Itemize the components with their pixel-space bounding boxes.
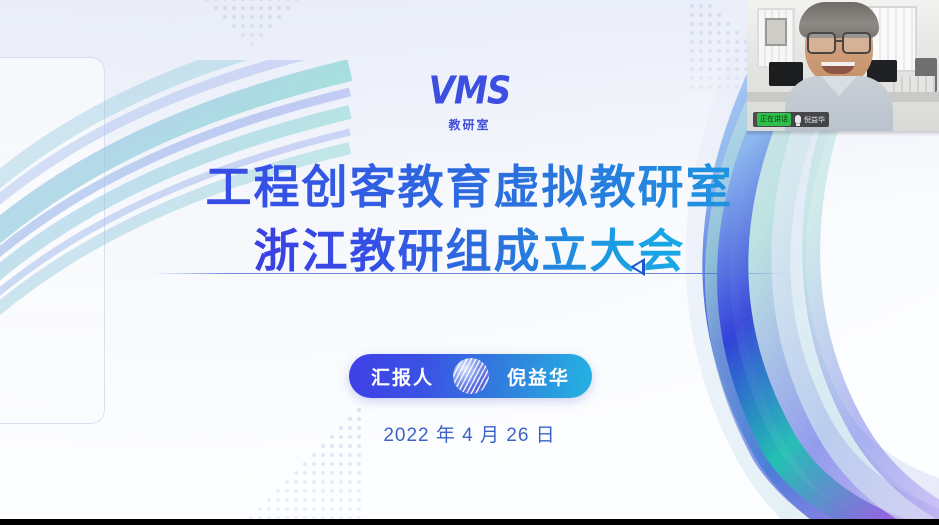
presenter-badge: 汇报人 倪益华 — [349, 354, 592, 398]
speaking-status-badge: 正在讲话 — [757, 113, 791, 126]
title-line-2-row: 浙江教研组成立大会 — [0, 224, 939, 278]
webcam-video-overlay[interactable]: 正在讲话 倪益华 — [747, 0, 939, 131]
presentation-slide-screen: VMS 教研室 工程创客教育虚拟教研室 浙江教研组成立大会 汇报人 倪益华 20… — [0, 0, 939, 525]
webcam-name-label: 正在讲话 倪益华 — [753, 112, 829, 127]
participant-glasses-icon — [807, 32, 871, 50]
mouse-cursor-arrow-icon — [630, 258, 645, 276]
title-block: 工程创客教育虚拟教研室 浙江教研组成立大会 — [0, 160, 939, 279]
bottom-letterbox-bar — [0, 519, 939, 525]
presenter-role-label: 汇报人 — [371, 363, 434, 390]
title-line-1: 工程创客教育虚拟教研室 — [0, 160, 939, 214]
ribbon-left-svg — [0, 60, 440, 525]
webcam-drop-shadow — [747, 131, 939, 136]
title-line-2: 浙江教研组成立大会 — [254, 225, 686, 277]
microphone-icon — [795, 115, 801, 124]
swirl-sphere-icon — [453, 358, 489, 394]
presenter-name: 倪益华 — [507, 363, 570, 390]
webcam-wall-picture — [765, 18, 787, 46]
webcam-participant-name: 倪益华 — [804, 115, 825, 125]
slide-date: 2022 年 4 月 26 日 — [0, 420, 939, 447]
